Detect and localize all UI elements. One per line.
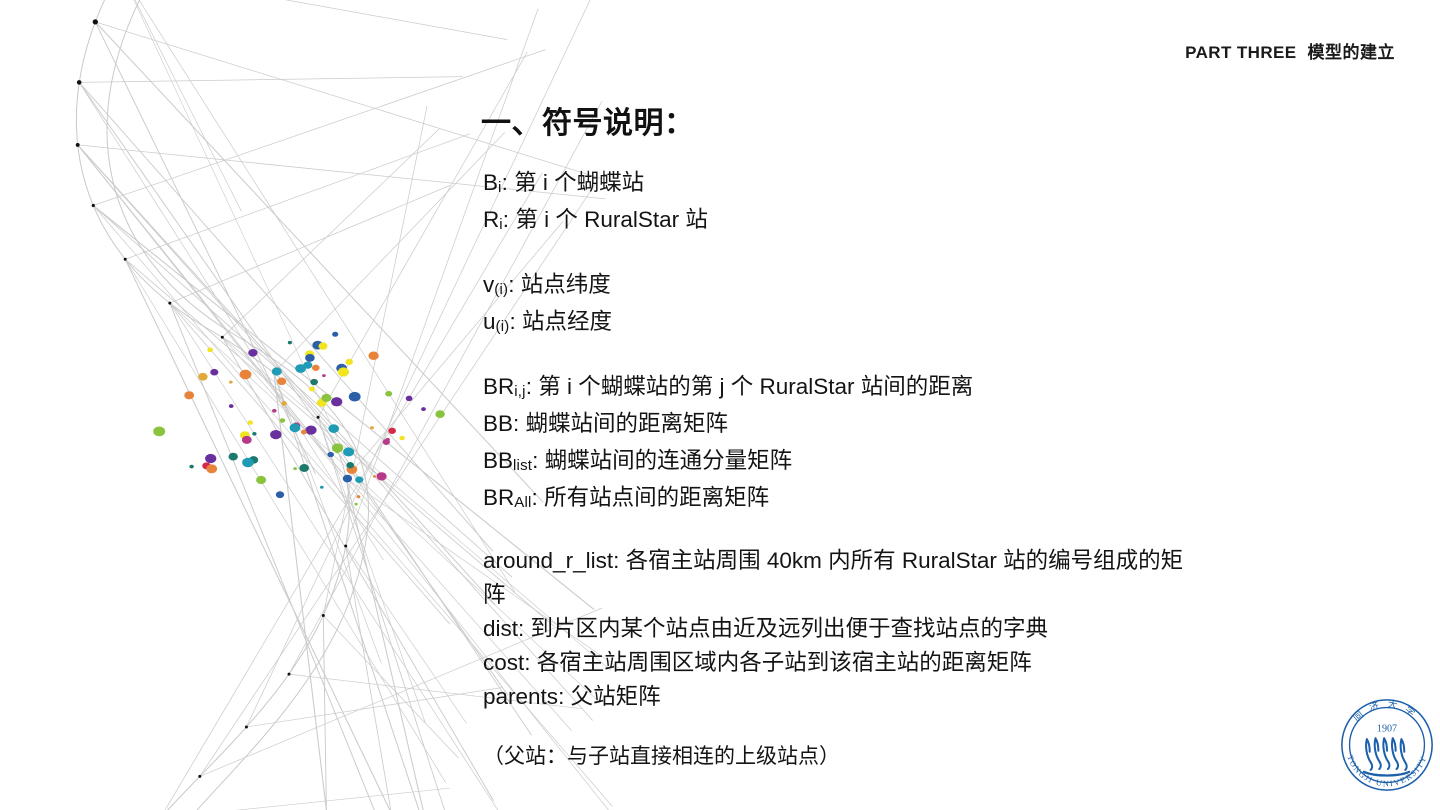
notation-symbol: B [483,170,498,195]
notation-symbol: dist [483,616,518,641]
artwork-scatter-dot [406,396,413,402]
artwork-chord [323,616,458,759]
artwork-chord [95,22,315,474]
artwork-scatter-dot [368,352,378,361]
notation-symbol: cost [483,650,524,675]
artwork-node-dot [288,673,291,676]
notation-description: 父站矩阵 [571,684,661,709]
artwork-node-dot [198,775,201,778]
group-spacer [483,240,1203,268]
artwork-chord [120,0,343,450]
notation-item: Ri: 第 i 个 RuralStar 站 [483,203,1203,240]
artwork-chord [170,303,499,810]
artwork-scatter-dot [345,359,353,365]
artwork-scatter-dot [312,365,320,371]
notation-item: around_r_list: 各宿主站周围 40km 内所有 RuralStar… [483,544,1203,612]
artwork-scatter-dot [210,369,218,376]
artwork-scatter-dot [370,426,374,429]
notation-description: 到片区内某个站点由近及远列出便于查找站点的字典 [531,616,1049,641]
artwork-scatter-dot [338,367,349,376]
artwork-scatter-dot [435,410,444,418]
notation-description: 站点经度 [522,309,612,334]
notation-separator: : [503,207,516,232]
artwork-scatter-dot [270,430,281,439]
artwork-scatter-dot [272,367,282,375]
artwork-scatter-dot [327,452,334,457]
artwork-nodes [76,0,348,810]
notation-item: dist: 到片区内某个站点由近及远列出便于查找站点的字典 [483,612,1203,646]
logo-emblem [1364,738,1409,775]
notation-symbol: parents [483,684,558,709]
notation-description: 站点纬度 [521,272,611,297]
notation-description: 各宿主站周围区域内各子站到该宿主站的距离矩阵 [537,650,1032,675]
artwork-scatter-dot [388,428,396,434]
notation-footnote: （父站：与子站直接相连的上级站点） [483,740,1203,774]
artwork-chord [222,129,439,337]
artwork-scatter-dot [376,472,386,480]
artwork-chord [79,82,383,560]
artwork-chord [120,0,507,40]
artwork-scatter-dot [386,438,390,442]
slide-header: PART THREE模型的建立 [1185,38,1395,63]
artwork-scatter-dot [280,418,286,423]
artwork-scatter-dot [347,465,358,474]
artwork-scatter-dot [299,464,309,472]
notation-item: BRAll: 所有站点间的距离矩阵 [483,481,1203,518]
artwork-chord [318,417,492,810]
page-title: 一、符号说明： [481,98,695,142]
notation-item: Bi: 第 i 个蝴蝶站 [483,166,1203,203]
artwork-scatter-points [153,332,445,506]
artwork-chord [93,50,545,206]
artwork-scatter-dot [153,426,165,436]
notation-description: 第 i 个蝴蝶站 [514,170,644,195]
notation-group-3: BRi,j: 第 i 个蝴蝶站的第 j 个 RuralStar 站间的距离 BB… [483,370,1203,518]
artwork-chord [170,303,450,624]
artwork-scatter-dot [336,364,347,373]
artwork-chord [170,185,450,303]
artwork-scatter-dot [229,453,238,461]
artwork-node-dot [322,614,325,617]
notation-description: 所有站点间的距离矩阵 [544,485,769,510]
artwork-scatter-dot [385,391,392,397]
artwork-scatter-dot [288,341,292,344]
artwork-scatter-dot [354,503,357,506]
notation-separator: : [524,650,537,675]
notation-symbol: v [483,272,494,297]
artwork-chord [274,373,381,663]
logo-chinese-name: 同济大学 [1351,698,1423,724]
artwork-scatter-dot [256,476,266,484]
artwork-scatter-dot [277,378,286,386]
artwork-chord [346,546,407,810]
artwork-scatter-dot [272,409,277,413]
artwork-scatter-dot [301,430,307,435]
artwork-scatter-dot [373,475,376,478]
artwork-scatter-dot [322,374,326,377]
notation-item: BB: 蝴蝶站间的距离矩阵 [483,407,1203,444]
notation-separator: : [526,374,539,399]
artwork-scatter-dot [281,401,287,406]
artwork-scatter-dot [355,476,363,483]
notation-group-4: around_r_list: 各宿主站周围 40km 内所有 RuralStar… [483,544,1203,714]
artwork-chord [323,106,427,616]
artwork-chord [246,688,502,727]
notation-subscript: All [514,494,531,511]
artwork-chord [346,479,424,810]
notation-symbol: R [483,207,499,232]
notation-item: u(i): 站点经度 [483,305,1203,342]
artwork-chord [323,616,328,810]
artwork-node-dot [245,726,248,729]
notation-symbol: u [483,309,496,334]
notation-subscript: list [513,457,532,474]
artwork-scatter-dot [320,486,324,489]
artwork-chord [274,373,440,810]
artwork-scatter-dot [383,439,390,445]
artwork-chord [120,0,242,212]
artwork-chord [125,259,446,783]
notation-separator: : [558,684,571,709]
group-spacer [483,714,1203,740]
notation-description: 第 i 个蝴蝶站的第 j 个 RuralStar 站间的距离 [538,374,973,399]
artwork-node-dot [76,143,80,147]
artwork-chord [222,337,493,801]
artwork-scatter-dot [184,391,194,399]
notation-description: 蝴蝶站间的连通分量矩阵 [545,448,793,473]
notation-separator: : [613,548,626,573]
artwork-scatter-dot [198,373,207,381]
notation-separator: : [508,272,521,297]
artwork-chord [170,303,408,810]
artwork-scatter-dot [343,475,352,483]
notation-description: 第 i 个 RuralStar 站 [515,207,708,232]
notation-item: cost: 各宿主站周围区域内各子站到该宿主站的距离矩阵 [483,646,1203,680]
logo-year: 1907 [1377,724,1397,735]
artwork-scatter-dot [293,467,297,470]
artwork-chord [346,546,467,723]
notation-symbol: BB [483,448,513,473]
artwork-chord [125,134,470,260]
notation-separator: : [532,448,545,473]
header-section-title: 模型的建立 [1308,43,1396,62]
artwork-chord [78,145,495,605]
artwork-scatter-dot [399,436,405,441]
notation-symbol: BR [483,374,514,399]
artwork-arc-curve [76,0,368,810]
artwork-chord [318,417,425,723]
header-part-label: PART THREE [1185,43,1296,62]
artwork-scatter-dot [240,431,250,439]
artwork-scatter-dot [310,379,318,385]
artwork-scatter-dot [240,370,252,380]
artwork-scatter-dot [321,394,331,402]
notation-subscript: i,j [514,383,525,400]
artwork-scatter-dot [252,432,256,436]
artwork-scatter-dot [421,407,426,411]
slide-root: PART THREE模型的建立 一、符号说明： Bi: 第 i 个蝴蝶站 Ri:… [0,0,1440,810]
artwork-node-dot [92,204,95,207]
artwork-scatter-dot [305,354,315,362]
artwork-scatter-dot [343,447,354,456]
group-spacer [483,518,1203,544]
artwork-chord [160,788,449,810]
artwork-scatter-dot [331,397,342,406]
artwork-node-dot [272,371,275,374]
tongji-university-logo: TONGJI UNIVERSITY 同济大学 1907 [1339,697,1435,793]
artwork-node-dot [317,416,320,419]
notation-subscript: i [499,216,503,233]
artwork-scatter-dot [292,422,300,429]
notation-item: BBlist: 蝴蝶站间的连通分量矩阵 [483,444,1203,481]
artwork-scatter-dot [242,458,254,467]
artwork-node-dot [345,477,348,480]
artwork-scatter-dot [295,364,306,373]
artwork-chord [274,373,342,810]
artwork-scatter-dot [305,350,314,358]
artwork-scatter-dot [318,342,327,349]
artwork-chord [93,206,512,578]
artwork-scatter-dot [207,347,213,352]
artwork-chord [95,22,543,502]
artwork-chord [120,0,515,592]
artwork-scatter-dot [312,341,323,350]
artwork-node-dot [221,336,224,339]
notation-symbol: BR [483,485,514,510]
artwork-chord [79,82,508,695]
notation-group-2: v(i): 站点纬度 u(i): 站点经度 [483,268,1203,342]
artwork-scatter-dot [229,404,234,408]
artwork-chord [79,82,493,551]
artwork-node-dot [124,258,127,261]
artwork-backbone-curve [76,0,349,810]
artwork-chord [78,145,342,472]
notation-item: v(i): 站点纬度 [483,268,1203,305]
artwork-scatter-dot [349,392,361,402]
artwork-scatter-dot [242,436,252,444]
artwork-scatter-dot [309,387,315,392]
artwork-scatter-dot [335,450,339,453]
artwork-scatter-dot [205,454,216,463]
notation-subscript: (i) [494,281,508,298]
artwork-scatter-dot [189,465,194,469]
artwork-scatter-dot [317,399,327,407]
artwork-scatter-dot [249,456,258,464]
notation-item: parents: 父站矩阵 [483,680,1203,714]
artwork-backbone-curve [107,0,368,810]
notation-symbol: around_r_list [483,548,613,573]
notation-description: 蝴蝶站间的距离矩阵 [526,411,729,436]
notation-separator: : [518,616,531,641]
artwork-scatter-dot [290,423,301,432]
notation-separator: : [513,411,526,436]
artwork-chord [125,259,410,810]
artwork-scatter-dot [332,443,343,452]
artwork-scatter-dot [248,462,254,467]
artwork-chord [274,132,505,373]
artwork-node-dot [77,80,82,85]
notation-list: Bi: 第 i 个蝴蝶站 Ri: 第 i 个 RuralStar 站 v(i):… [483,166,1203,774]
artwork-scatter-dot [303,362,312,369]
notation-separator: : [532,485,545,510]
artwork-scatter-dot [229,381,233,384]
notation-separator: : [502,170,515,195]
notation-item: BRi,j: 第 i 个蝴蝶站的第 j 个 RuralStar 站间的距离 [483,370,1203,407]
artwork-scatter-dot [346,462,354,468]
artwork-scatter-dot [332,332,338,337]
notation-subscript: (i) [496,318,510,335]
artwork-node-dot [168,302,171,305]
group-spacer [483,342,1203,370]
artwork-scatter-dot [248,420,253,424]
artwork-scatter-dot [206,464,217,473]
artwork-scatter-dot [202,462,211,469]
artwork-chord [79,77,463,83]
notation-group-1: Bi: 第 i 个蝴蝶站 Ri: 第 i 个 RuralStar 站 [483,166,1203,240]
artwork-scatter-dot [357,495,361,498]
artwork-node-dot [93,19,98,24]
artwork-node-dot [344,545,347,548]
artwork-scatter-dot [248,349,257,357]
artwork-scatter-dot [305,426,316,435]
notation-symbol: BB [483,411,513,436]
artwork-scatter-dot [328,424,339,433]
artwork-scatter-dot [276,491,284,498]
notation-separator: : [509,309,522,334]
notation-subscript: i [498,179,502,196]
